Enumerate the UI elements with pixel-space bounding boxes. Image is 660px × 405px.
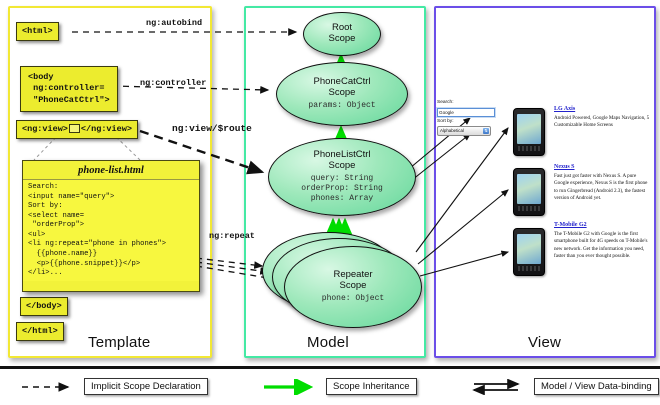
phone-list-item: T-Mobile G2 The T-Mobile G2 with Google … — [554, 222, 650, 261]
scope-repeater-stack: Repeater Scope phone: Object — [262, 232, 422, 328]
chevron-down-icon: ⇅ — [483, 128, 489, 134]
legend-divider — [0, 366, 660, 369]
phone-thumbnail-t-mobile-g2 — [513, 228, 545, 276]
phone-keyboard — [518, 266, 540, 271]
scope-phonecatctrl-props: params: Object — [308, 101, 375, 111]
panel-label-view: View — [528, 334, 561, 351]
sort-select[interactable]: Alphabetical ⇅ — [437, 126, 491, 136]
scope-phonelistctrl: PhoneListCtrl Scope query: String orderP… — [268, 138, 416, 216]
phone-list-item: LG Axis Android Powered, Google Maps Nav… — [554, 106, 650, 130]
phone-keyboard — [518, 146, 540, 151]
phone-screen — [517, 234, 541, 264]
double-arrow-icon — [470, 379, 528, 395]
panel-label-template: Template — [88, 334, 150, 351]
scope-phonecatctrl: PhoneCatCtrl Scope params: Object — [276, 62, 408, 126]
tag-body-close: </body> — [20, 297, 68, 316]
search-widget: Search: Google Sort by: Alphabetical ⇅ — [437, 100, 497, 136]
phone-snippet: Android Powered, Google Maps Navigation,… — [554, 115, 650, 130]
phone-snippet: Fast just got faster with Nexus S. A pur… — [554, 173, 650, 203]
legend-label-inheritance: Scope Inheritance — [326, 378, 417, 395]
phone-list-item: Nexus S Fast just got faster with Nexus … — [554, 164, 650, 203]
search-input[interactable]: Google — [437, 108, 495, 117]
scope-repeater: Repeater Scope phone: Object — [284, 246, 422, 328]
phone-name-link[interactable]: LG Axis — [554, 106, 650, 112]
scope-phonecatctrl-name: PhoneCatCtrl Scope — [313, 77, 370, 99]
scope-repeater-name: Repeater Scope — [333, 270, 372, 292]
scope-repeater-props: phone: Object — [322, 294, 384, 304]
scope-root-name: Root Scope — [329, 23, 356, 45]
phone-thumbnail-nexus-s — [513, 168, 545, 216]
edge-label-ng-view-route: ng:view/$route — [172, 123, 252, 134]
phone-thumbnail-lg-axis — [513, 108, 545, 156]
legend-label-implicit: Implicit Scope Declaration — [84, 378, 208, 395]
tag-ngview-open: <ng:view> — [22, 124, 68, 134]
diagram-canvas: Template Model View — [0, 0, 660, 405]
green-arrow-icon — [262, 379, 320, 395]
phone-name-link[interactable]: T-Mobile G2 — [554, 222, 650, 228]
legend-item-implicit: Implicit Scope Declaration — [20, 378, 208, 395]
search-label: Search: — [437, 100, 497, 107]
legend-item-inheritance: Scope Inheritance — [262, 378, 417, 395]
sticky-note-phone-list: phone-list.html Search: <input name="que… — [22, 160, 200, 292]
edge-label-ng-controller: ng:controller — [140, 78, 206, 88]
dashed-arrow-icon — [20, 379, 78, 395]
phone-name-link[interactable]: Nexus S — [554, 164, 650, 170]
legend-label-databinding: Model / View Data-binding — [534, 378, 659, 395]
phone-screen — [517, 174, 541, 204]
note-title: phone-list.html — [23, 161, 199, 179]
scope-phonelistctrl-props: query: String orderProp: String phones: … — [301, 174, 383, 204]
legend: Implicit Scope Declaration Scope Inherit… — [0, 376, 660, 402]
panel-label-model: Model — [307, 334, 349, 351]
phone-keyboard — [518, 206, 540, 211]
phone-screen — [517, 114, 541, 144]
edge-label-ng-autobind: ng:autobind — [146, 18, 202, 28]
tag-ngview: <ng:view></ng:view> — [16, 120, 138, 139]
tag-html-close: </html> — [16, 322, 64, 341]
edge-label-ng-repeat: ng:repeat — [209, 231, 255, 241]
ngview-slot-icon — [69, 124, 80, 133]
tag-body-open: <body ng:controller= "PhoneCatCtrl"> — [20, 66, 118, 112]
tag-html-open: <html> — [16, 22, 59, 41]
sort-select-value: Alphabetical — [440, 128, 464, 133]
legend-item-databinding: Model / View Data-binding — [470, 378, 659, 395]
scope-root: Root Scope — [303, 12, 381, 56]
phone-snippet: The T-Mobile G2 with Google is the first… — [554, 231, 650, 261]
tag-ngview-close: </ng:view> — [81, 124, 132, 134]
note-code: Search: <input name="query"> Sort by: <s… — [23, 179, 199, 281]
scope-phonelistctrl-name: PhoneListCtrl Scope — [313, 150, 370, 172]
sort-label: Sort by: — [437, 119, 497, 126]
